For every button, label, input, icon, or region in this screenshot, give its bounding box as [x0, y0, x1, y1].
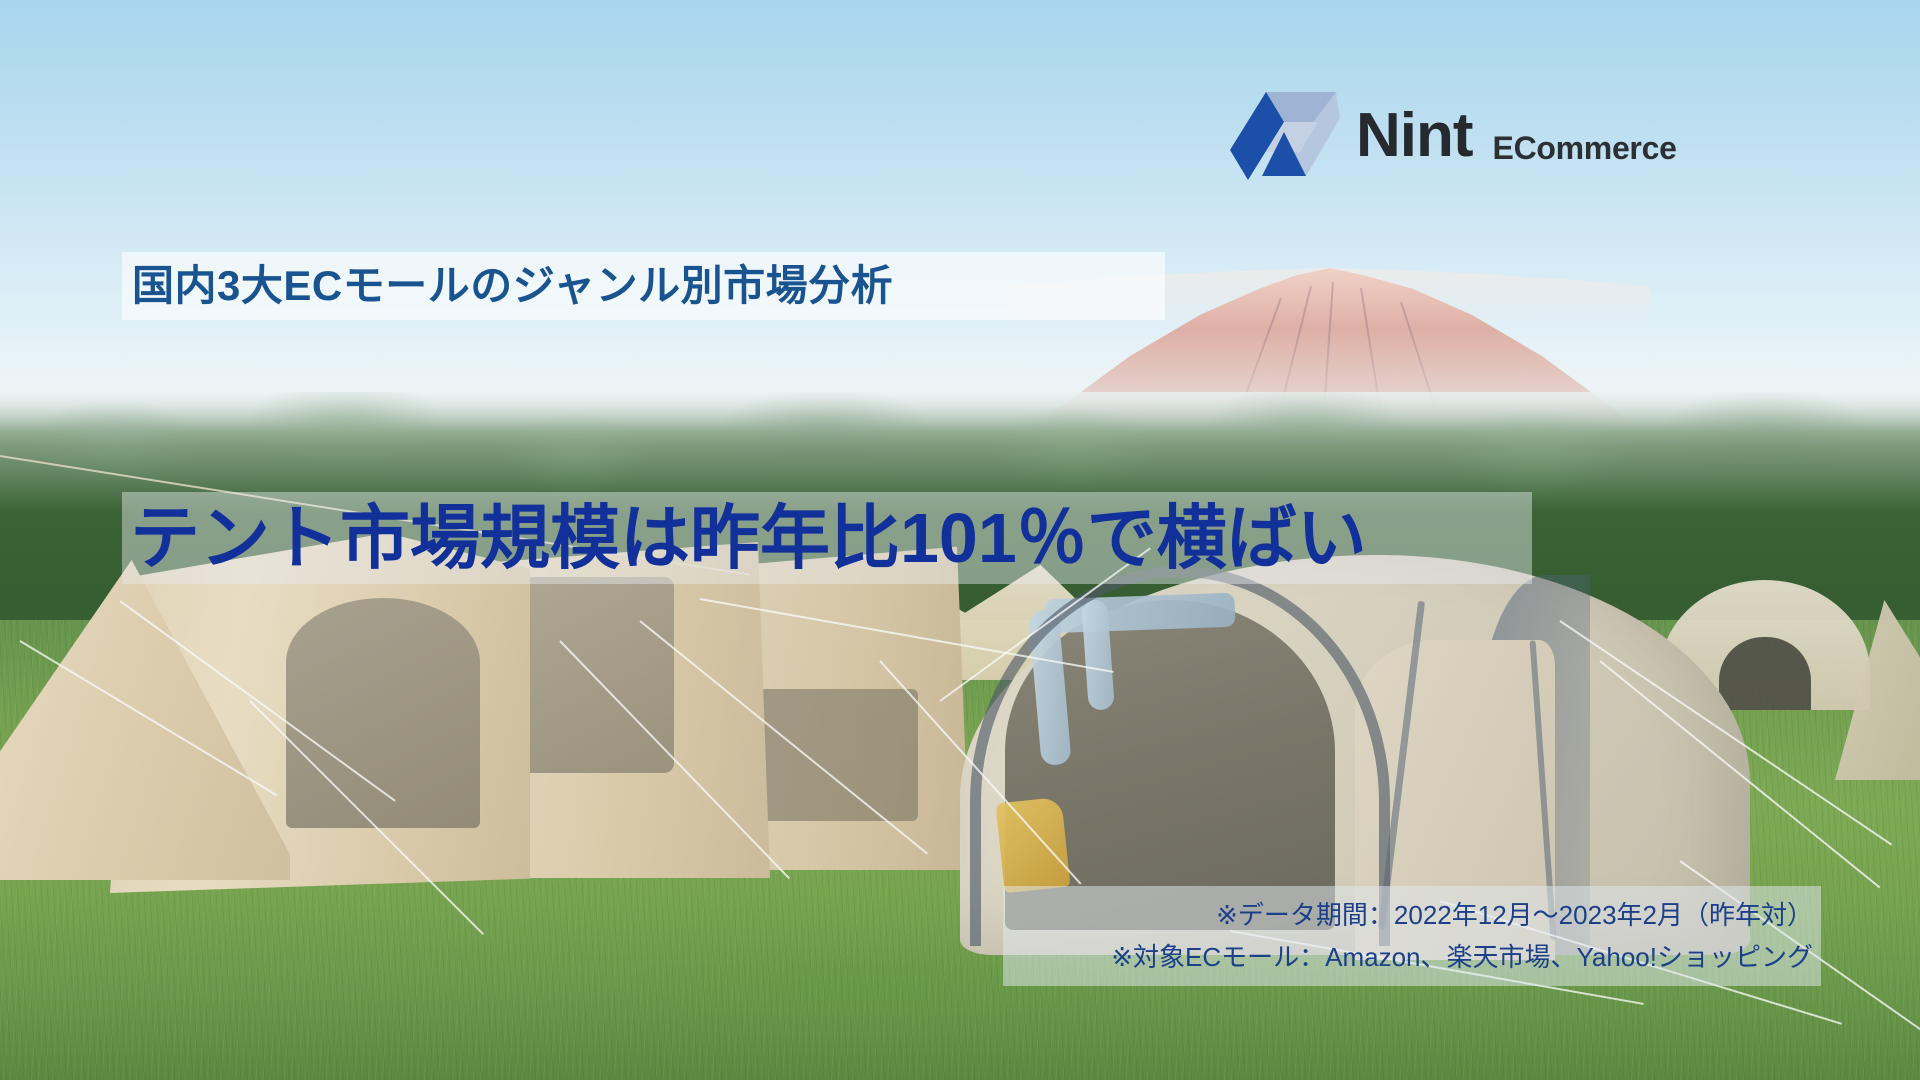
- footnote-target-malls: ※対象ECモール：Amazon、楽天市場、Yahoo!ショッピング: [1111, 936, 1813, 978]
- subheadline-text: 国内3大ECモールのジャンル別市場分析: [132, 265, 893, 307]
- headline-band: テント市場規模は昨年比101％で横ばい: [122, 492, 1532, 584]
- footnote-data-period: ※データ期間：2022年12月〜2023年2月（昨年対）: [1216, 894, 1813, 936]
- tent-opening: [1719, 637, 1811, 710]
- nint-ecommerce-logo[interactable]: Nint ECommerce: [1222, 88, 1677, 180]
- logo-suffix: ECommerce: [1493, 132, 1677, 164]
- logo-wordmark: Nint: [1356, 105, 1473, 167]
- headline-text: テント市場規模は昨年比101％で横ばい: [130, 503, 1367, 573]
- tent-mesh-window: [757, 689, 918, 821]
- yellow-gear: [995, 797, 1070, 893]
- footnote-band: ※データ期間：2022年12月〜2023年2月（昨年対） ※対象ECモール：Am…: [1003, 886, 1821, 986]
- slide-canvas: Nint ECommerce 国内3大ECモールのジャンル別市場分析 テント市場…: [0, 0, 1920, 1080]
- subheadline-band: 国内3大ECモールのジャンル別市場分析: [122, 252, 1165, 320]
- nint-logo-mark: [1222, 88, 1340, 180]
